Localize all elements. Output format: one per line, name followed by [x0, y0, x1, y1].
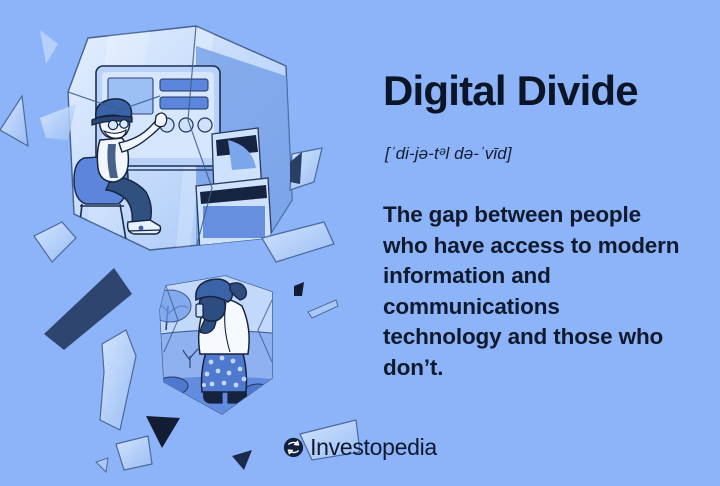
pronunciation: [ˈdi-jə-tᵊl də-ˈvīd]: [385, 143, 512, 165]
screen-text-bar-2: [160, 97, 208, 109]
mobile-phone: [196, 304, 203, 317]
definition-text: The gap between people who have access t…: [383, 200, 683, 383]
screen-button-3: [198, 118, 212, 132]
page-title: Digital Divide: [383, 68, 638, 114]
standing-woman: [196, 279, 249, 403]
illustration: [0, 0, 360, 486]
definition-text-column: Digital Divide [ˈdi-jə-tᵊl də-ˈvīd] The …: [383, 0, 703, 486]
brand-name: Investopedia: [310, 436, 437, 459]
screen-text-bar-1: [160, 79, 208, 91]
connected-user-panel: [68, 26, 292, 252]
brand-lockup: Investopedia: [0, 436, 720, 459]
investopedia-swoosh-icon: [283, 437, 304, 458]
digital-divide-definition-card: Digital Divide [ˈdi-jə-tᵊl də-ˈvīd] The …: [0, 0, 720, 486]
